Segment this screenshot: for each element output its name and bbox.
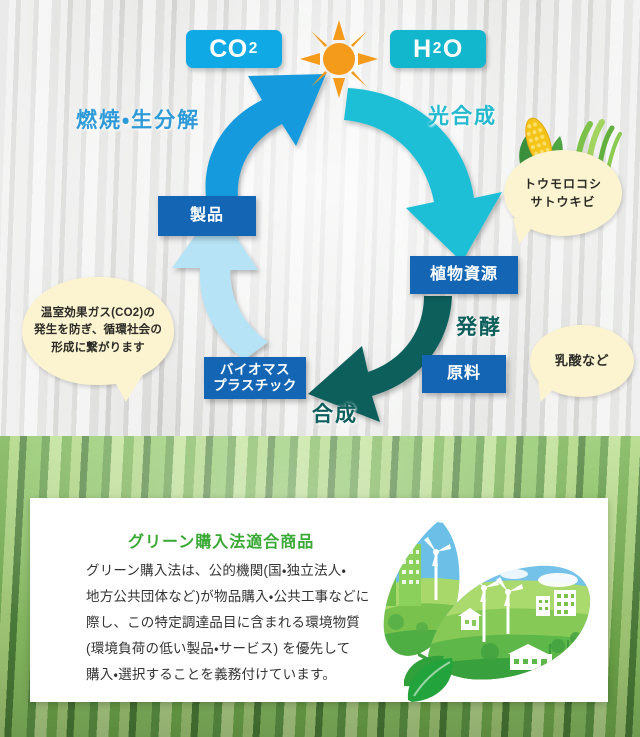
- h2o-subscript: 2: [433, 40, 442, 58]
- green-purchasing-card: グリーン購入法適合商品 グリーン購入法は、公的機関(国・独立法人・ 地方公共団体…: [30, 498, 608, 702]
- green-purchasing-panel: グリーン購入法適合商品 グリーン購入法は、公的機関(国・独立法人・ 地方公共団体…: [0, 436, 640, 737]
- stage-box-biomass-plastic-line1: バイオマス: [213, 362, 297, 378]
- process-label-photosynthesis: 光合成: [428, 100, 497, 130]
- callout-lactic-acid: 乳酸など: [530, 325, 634, 397]
- stage-box-plant-resource: 植物資源: [410, 256, 518, 294]
- co2-subscript: 2: [249, 40, 258, 58]
- carbon-cycle-panel: CO2 H2O 製品 植物資源 原料 バイオマス プラスチック 燃焼・生分解 光…: [0, 0, 640, 436]
- process-label-fermentation: 発酵: [456, 311, 502, 341]
- co2-text: CO: [209, 35, 248, 64]
- h2o-text-h: H: [413, 35, 432, 64]
- callout-greenhouse-gas-line2: 発生を防ぎ、循環社会の: [34, 322, 162, 339]
- process-label-combustion-biodegradation: 燃焼・生分解: [76, 104, 200, 134]
- h2o-text-o: O: [443, 35, 463, 64]
- callout-crops-line2: サトウキビ: [524, 193, 602, 211]
- callout-greenhouse-gas-line3: 形成に繋がります: [34, 340, 162, 357]
- process-label-synthesis: 合成: [312, 398, 358, 428]
- stage-box-raw-material-label: 原料: [447, 365, 481, 384]
- sun-icon: [300, 20, 378, 98]
- co2-label-box: CO2: [186, 30, 282, 68]
- stage-box-product-label: 製品: [190, 207, 224, 226]
- green-purchasing-title: グリーン購入法適合商品: [128, 528, 314, 552]
- callout-lactic-acid-label: 乳酸など: [555, 351, 609, 371]
- callout-crops: トウモロコシ サトウキビ: [504, 150, 622, 236]
- eco-leaf-illustration-icon: [362, 504, 594, 702]
- stage-box-biomass-plastic: バイオマス プラスチック: [204, 357, 306, 399]
- stage-box-product: 製品: [158, 196, 256, 236]
- infographic-page: CO2 H2O 製品 植物資源 原料 バイオマス プラスチック 燃焼・生分解 光…: [0, 0, 640, 737]
- h2o-label-box: H2O: [390, 30, 486, 68]
- callout-tail: [112, 373, 147, 403]
- stage-box-biomass-plastic-line2: プラスチック: [213, 378, 297, 394]
- stage-box-plant-resource-label: 植物資源: [430, 266, 498, 285]
- callout-greenhouse-gas: 温室効果ガス(CO2)の 発生を防ぎ、循環社会の 形成に繋がります: [22, 277, 174, 385]
- stage-box-raw-material: 原料: [422, 355, 506, 393]
- callout-crops-line1: トウモロコシ: [524, 175, 602, 193]
- callout-greenhouse-gas-line1: 温室効果ガス(CO2)の: [34, 305, 162, 322]
